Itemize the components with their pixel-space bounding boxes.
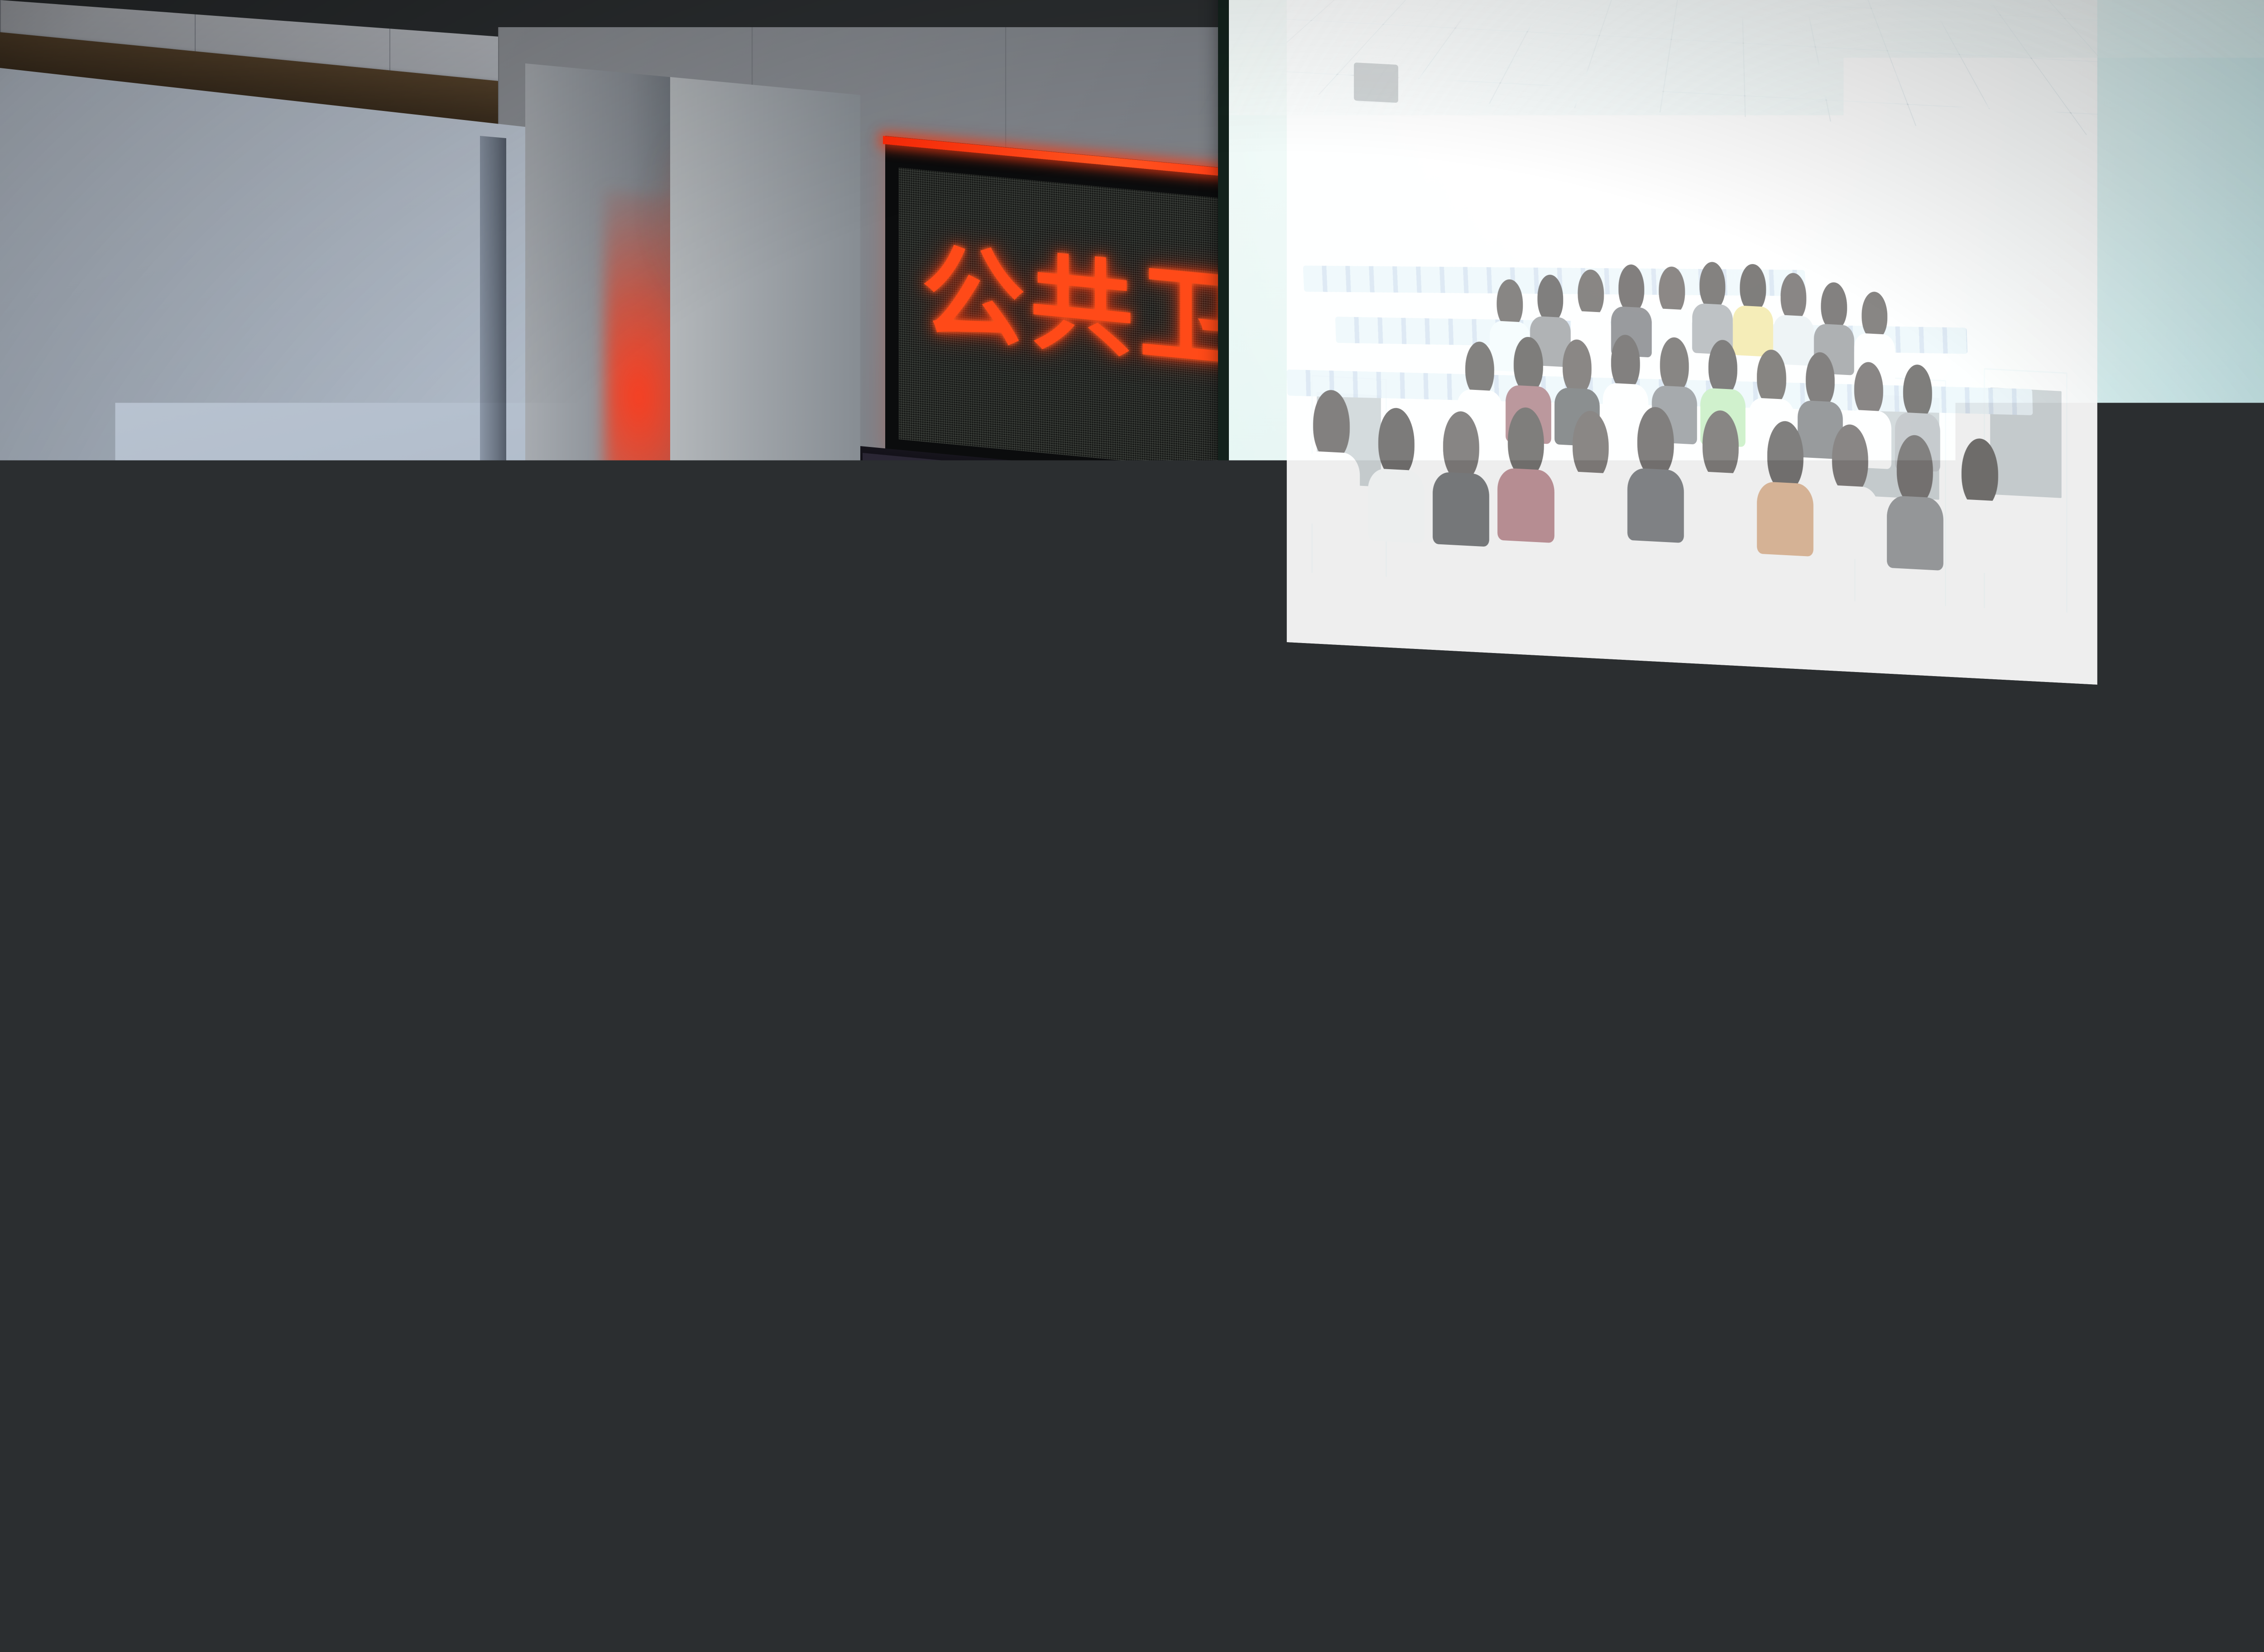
slide-photo-person xyxy=(1627,406,1684,543)
stool-leg xyxy=(871,1599,878,1652)
white-cable-conduit xyxy=(870,480,879,1187)
slide-group-photo xyxy=(1287,0,2097,685)
slide-photo-person xyxy=(1692,409,1749,546)
slide-photo-person xyxy=(1773,272,1814,366)
slide-photo-person xyxy=(1433,410,1489,547)
auditorium-door[interactable] xyxy=(885,471,1175,1205)
stool-cone xyxy=(849,1400,899,1442)
stool-post xyxy=(865,1439,883,1589)
slide-photo-person xyxy=(1563,409,1619,547)
speaker-person xyxy=(195,743,539,1652)
emblem-letter: T xyxy=(89,1388,106,1404)
box-label xyxy=(543,1568,567,1590)
vase-painting-neck xyxy=(709,946,777,1081)
vase-highlight-upper xyxy=(718,1105,734,1200)
emblem-text-ring: PUBLIC HEALTH xyxy=(0,1349,131,1540)
emblem-letter: H xyxy=(96,1400,114,1416)
bar-stool-front[interactable] xyxy=(661,1417,811,1652)
emblem-letter: H xyxy=(44,1359,56,1376)
vase-highlight-lower xyxy=(725,1295,739,1368)
podium-emblem: PUBLIC HEALTH xyxy=(0,1349,131,1540)
emblem-letter: A xyxy=(68,1369,85,1387)
lecture-hall-scene: 公共卫生学 xyxy=(0,0,2264,1652)
vase-colophon-text xyxy=(685,933,695,1037)
stool-footrest-ring xyxy=(793,1567,968,1620)
stool-post xyxy=(727,1489,745,1638)
slide-photo-person xyxy=(1497,406,1554,543)
stool-cone xyxy=(710,1450,761,1492)
stool-footrest-ring xyxy=(652,1617,832,1652)
slide-photo-person xyxy=(1303,389,1360,526)
emblem-letter xyxy=(34,1359,38,1374)
emblem-letter: E xyxy=(57,1363,71,1381)
emblem-letter: I xyxy=(4,1364,13,1380)
slide-photo-person xyxy=(1757,420,1813,557)
projection-screen: 放射二班 FOREVER xyxy=(1229,0,2264,1069)
slide-photo-person xyxy=(1368,406,1425,543)
stool-leg xyxy=(932,1603,939,1652)
emblem-letter: L xyxy=(0,1369,4,1387)
bar-stool-back[interactable] xyxy=(801,1368,946,1652)
slide-photo-person xyxy=(1887,433,1943,571)
slide-photo-person xyxy=(1952,437,2008,574)
box-side-face xyxy=(584,1528,622,1609)
slide-photo-person xyxy=(1733,263,1774,357)
slide-photo-person xyxy=(1822,423,1878,560)
emblem-letter: C xyxy=(16,1359,28,1376)
conduit-hook xyxy=(848,731,878,749)
vase-painting-body xyxy=(645,1250,777,1440)
door-center-split xyxy=(1026,471,1028,1177)
slide-headline-chinese: 放射二班 xyxy=(2049,145,2264,278)
vase-painting-shoulder xyxy=(646,1087,777,1277)
stool-leg xyxy=(733,1648,740,1652)
emblem-letter: L xyxy=(79,1378,96,1395)
